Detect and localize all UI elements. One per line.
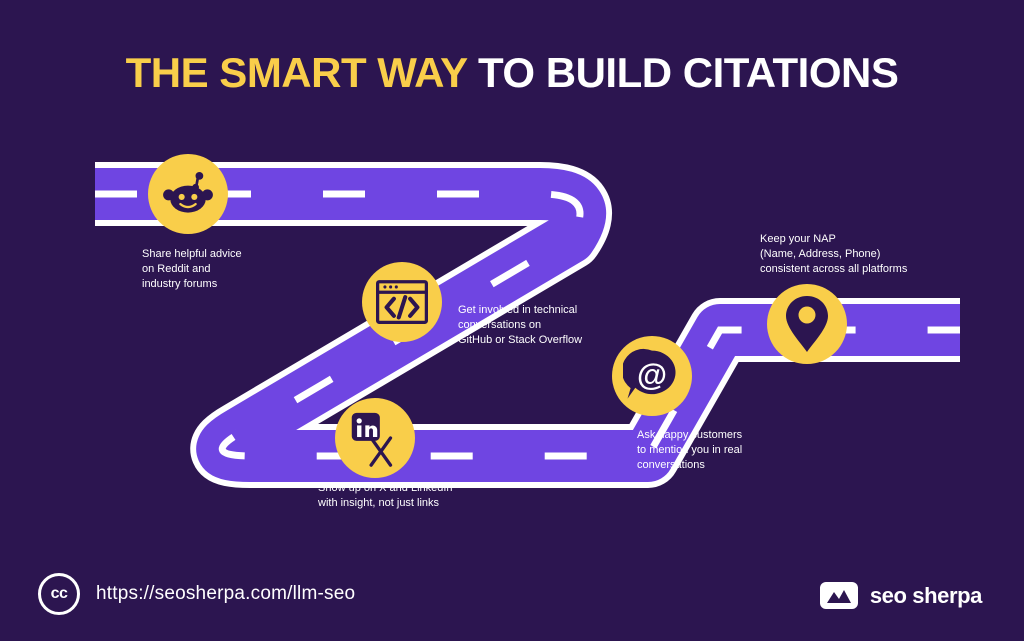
infographic-canvas: THE SMART WAY TO BUILD CITATIONS Share h: [0, 0, 1024, 641]
step-caption-reddit: Share helpful advice on Reddit and indus…: [142, 247, 322, 292]
step-node-nap[interactable]: [767, 284, 847, 364]
at-speech-bubble-icon: @: [623, 347, 681, 405]
creative-commons-icon: cc: [38, 573, 80, 615]
step-node-mention[interactable]: @: [612, 336, 692, 416]
step-caption-social: Show up on X and LinkedIn with insight, …: [318, 481, 533, 511]
step-node-social[interactable]: [335, 398, 415, 478]
reddit-icon: [161, 167, 215, 221]
brand-logo[interactable]: seo sherpa: [820, 582, 982, 609]
linkedin-x-icon: [344, 407, 406, 469]
step-caption-mention: Ask happy customers to mention you in re…: [637, 428, 837, 473]
step-node-reddit[interactable]: [148, 154, 228, 234]
map-pin-icon: [785, 295, 829, 353]
code-window-icon: [376, 280, 428, 324]
brand-name: seo sherpa: [870, 583, 982, 609]
svg-text:@: @: [637, 357, 667, 392]
footer-url-group[interactable]: cc https://seosherpa.com/llm-seo: [38, 573, 355, 615]
step-caption-nap: Keep your NAP (Name, Address, Phone) con…: [760, 232, 990, 277]
step-caption-code: Get involved in technical conversations …: [458, 303, 658, 348]
footer-url-link[interactable]: https://seosherpa.com/llm-seo: [96, 583, 355, 605]
mountain-icon: [820, 582, 858, 609]
step-node-code[interactable]: [362, 262, 442, 342]
